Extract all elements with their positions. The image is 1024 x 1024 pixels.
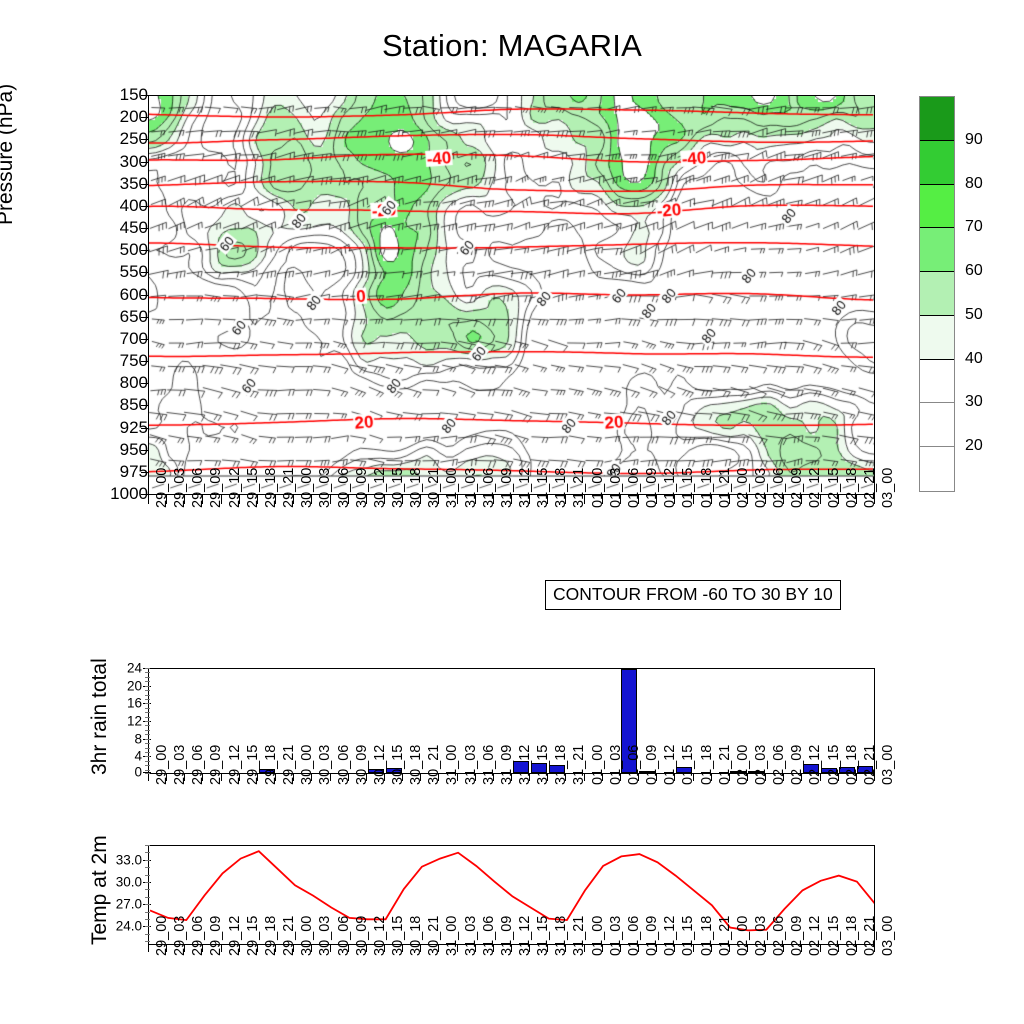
x-tickmark xyxy=(457,945,458,952)
x-tickmark xyxy=(184,495,185,504)
temp-y-minor-tick xyxy=(145,889,150,890)
x-tick-label: 02_18 xyxy=(844,745,860,785)
rain-y-minor-tick xyxy=(145,756,150,757)
x-tick-label: 31_00 xyxy=(444,745,460,785)
x-tickmark xyxy=(529,495,530,504)
x-tickmark xyxy=(221,945,222,952)
x-tickmark xyxy=(656,945,657,952)
x-tickmark xyxy=(330,774,331,781)
x-tickmark xyxy=(838,774,839,781)
rain-y-minor-tick xyxy=(145,717,150,718)
main-y-tick: 925 xyxy=(88,418,148,438)
temp-y-minor-tick xyxy=(145,926,150,927)
colorbar-tick-label: 40 xyxy=(965,350,983,368)
x-tickmark xyxy=(602,495,603,504)
x-tickmark xyxy=(202,774,203,781)
rain-y-minor-tick xyxy=(145,770,150,771)
main-y-axis-label: Pressure (hPa) xyxy=(0,84,18,225)
x-tickmark xyxy=(693,495,694,504)
x-tick-label: 31_18 xyxy=(553,916,569,956)
temp-y-minor-tick xyxy=(145,875,150,876)
x-tickmark xyxy=(420,495,421,504)
main-y-tick: 400 xyxy=(88,196,148,216)
x-tickmark xyxy=(257,774,258,781)
rain-y-minor-tick xyxy=(145,668,150,669)
rain-y-minor-tick xyxy=(145,721,150,722)
colorbar-band xyxy=(920,185,954,229)
colorbar-tick-label: 50 xyxy=(965,306,983,324)
x-tick-label: 30_00 xyxy=(299,745,315,785)
x-tick-label: 02_03 xyxy=(753,916,769,956)
x-tickmark xyxy=(293,495,294,504)
x-tick-label: 31_03 xyxy=(463,916,479,956)
x-tick-label: 01_03 xyxy=(608,916,624,956)
x-tick-label: 29_18 xyxy=(263,745,279,785)
x-tickmark xyxy=(529,774,530,781)
rain-y-minor-tick xyxy=(145,725,150,726)
x-tickmark xyxy=(166,774,167,781)
x-tickmark xyxy=(638,945,639,952)
rain-x-axis: 29_0029_0329_0629_0929_1229_1529_1829_21… xyxy=(148,774,875,844)
x-tick-label: 30_15 xyxy=(390,916,406,956)
x-tickmark xyxy=(620,945,621,952)
x-tickmark xyxy=(221,495,222,504)
x-tickmark xyxy=(620,774,621,781)
x-tickmark xyxy=(765,774,766,781)
x-tick-label: 01_06 xyxy=(626,468,642,508)
x-tickmark xyxy=(584,774,585,781)
x-tickmark xyxy=(311,945,312,952)
main-y-tick: 650 xyxy=(88,307,148,327)
main-y-tick: 250 xyxy=(88,129,148,149)
x-tick-label: 29_21 xyxy=(281,468,297,508)
x-tickmark xyxy=(729,945,730,952)
x-tickmark xyxy=(584,495,585,504)
main-y-tickmark xyxy=(141,228,148,229)
rain-y-tick: 8 xyxy=(96,731,142,746)
main-y-tick: 350 xyxy=(88,174,148,194)
x-tick-label: 29_03 xyxy=(172,745,188,785)
x-tickmark xyxy=(747,945,748,952)
x-tick-label: 02_09 xyxy=(789,468,805,508)
x-tick-label: 30_18 xyxy=(408,916,424,956)
x-tickmark xyxy=(239,774,240,781)
x-tickmark xyxy=(402,495,403,504)
x-tick-label: 02_03 xyxy=(753,468,769,508)
main-y-tick: 300 xyxy=(88,152,148,172)
colorbar-tick-label: 90 xyxy=(965,131,983,149)
contour-legend-box: CONTOUR FROM -60 TO 30 BY 10 xyxy=(545,580,841,610)
x-tickmark xyxy=(711,495,712,504)
x-tick-label: 31_12 xyxy=(517,745,533,785)
rain-y-axis: 24201612840 xyxy=(96,668,148,774)
x-tick-label: 30_03 xyxy=(317,916,333,956)
x-tickmark xyxy=(511,945,512,952)
x-tickmark xyxy=(257,945,258,952)
x-tick-label: 31_09 xyxy=(499,916,515,956)
main-y-tick: 150 xyxy=(88,85,148,105)
main-y-tickmark xyxy=(141,450,148,451)
colorbar-tick-label: 80 xyxy=(965,175,983,193)
temp-y-tick: 33.0 xyxy=(96,852,142,867)
x-tickmark xyxy=(856,945,857,952)
temp-y-minor-tick xyxy=(145,941,150,942)
x-tickmark xyxy=(293,774,294,781)
main-y-tickmark xyxy=(141,428,148,429)
x-tick-label: 29_00 xyxy=(154,745,170,785)
x-tickmark xyxy=(348,774,349,781)
main-y-tickmark xyxy=(141,206,148,207)
x-tickmark xyxy=(547,774,548,781)
rain-y-minor-tick xyxy=(145,686,150,687)
x-tick-label: 01_12 xyxy=(662,745,678,785)
main-y-tick: 200 xyxy=(88,107,148,127)
x-tick-label: 29_00 xyxy=(154,916,170,956)
x-tick-label: 02_03 xyxy=(753,745,769,785)
x-tick-label: 30_18 xyxy=(408,745,424,785)
temp-y-tick: 27.0 xyxy=(96,897,142,912)
x-tick-label: 01_06 xyxy=(626,745,642,785)
rain-y-minor-tick xyxy=(145,672,150,673)
x-tick-label: 30_06 xyxy=(336,745,352,785)
x-tick-label: 01_00 xyxy=(590,745,606,785)
contour-field-canvas xyxy=(149,96,875,495)
colorbar-band xyxy=(920,403,954,447)
x-tick-label: 03_00 xyxy=(880,468,896,508)
x-tickmark xyxy=(693,945,694,952)
main-y-tickmark xyxy=(141,339,148,340)
x-tick-label: 29_06 xyxy=(190,468,206,508)
x-tick-label: 31_12 xyxy=(517,468,533,508)
x-tick-label: 01_09 xyxy=(644,745,660,785)
x-tick-label: 01_03 xyxy=(608,468,624,508)
x-tick-label: 30_09 xyxy=(354,468,370,508)
x-tickmark xyxy=(493,945,494,952)
colorbar-band xyxy=(920,360,954,404)
temp-y-minor-tick xyxy=(145,912,150,913)
x-tickmark xyxy=(638,495,639,504)
temp-y-minor-tick xyxy=(145,845,150,846)
x-tickmark xyxy=(820,774,821,781)
x-tickmark xyxy=(838,495,839,504)
x-tick-label: 31_15 xyxy=(535,745,551,785)
x-tick-label: 02_12 xyxy=(807,468,823,508)
rain-y-tick: 0 xyxy=(96,765,142,780)
x-tick-label: 01_21 xyxy=(717,745,733,785)
x-tick-label: 29_03 xyxy=(172,916,188,956)
x-tick-label: 01_18 xyxy=(699,916,715,956)
main-y-tickmark xyxy=(141,272,148,273)
temp-y-minor-tick xyxy=(145,897,150,898)
x-tickmark xyxy=(148,945,149,952)
main-y-tick: 750 xyxy=(88,351,148,371)
x-tick-label: 29_09 xyxy=(208,745,224,785)
x-tick-label: 31_00 xyxy=(444,468,460,508)
x-tickmark xyxy=(801,945,802,952)
x-tick-label: 02_06 xyxy=(771,745,787,785)
x-tick-label: 29_15 xyxy=(245,916,261,956)
colorbar-band xyxy=(920,316,954,360)
x-tickmark xyxy=(330,945,331,952)
main-y-axis: 1502002503003504004505005506006507007508… xyxy=(80,95,148,495)
x-tickmark xyxy=(475,495,476,504)
x-tickmark xyxy=(783,774,784,781)
x-tick-label: 29_00 xyxy=(154,468,170,508)
colorbar-band xyxy=(920,141,954,185)
x-tickmark xyxy=(674,495,675,504)
x-tick-label: 02_00 xyxy=(735,468,751,508)
x-tickmark xyxy=(656,495,657,504)
x-tick-label: 31_12 xyxy=(517,916,533,956)
x-tickmark xyxy=(511,495,512,504)
x-tick-label: 30_18 xyxy=(408,468,424,508)
x-tickmark xyxy=(420,774,421,781)
x-tick-label: 29_09 xyxy=(208,916,224,956)
x-tick-label: 02_21 xyxy=(862,916,878,956)
rain-y-minor-tick xyxy=(145,765,150,766)
x-tickmark xyxy=(856,495,857,504)
x-tickmark xyxy=(457,495,458,504)
x-tickmark xyxy=(166,495,167,504)
x-tick-label: 29_18 xyxy=(263,468,279,508)
x-tick-label: 29_09 xyxy=(208,468,224,508)
x-tickmark xyxy=(620,495,621,504)
x-tickmark xyxy=(529,945,530,952)
x-tick-label: 02_18 xyxy=(844,916,860,956)
colorbar-tick-label: 70 xyxy=(965,218,983,236)
x-tickmark xyxy=(783,495,784,504)
main-y-tick: 800 xyxy=(88,373,148,393)
x-tick-label: 29_06 xyxy=(190,916,206,956)
x-tick-label: 29_18 xyxy=(263,916,279,956)
temp-y-axis: 33.030.027.024.0 xyxy=(96,845,148,945)
x-tick-label: 29_21 xyxy=(281,916,297,956)
main-y-tick: 975 xyxy=(88,462,148,482)
x-tickmark xyxy=(602,774,603,781)
x-tickmark xyxy=(438,774,439,781)
x-tickmark xyxy=(729,774,730,781)
x-tickmark xyxy=(493,774,494,781)
x-tick-label: 03_00 xyxy=(880,916,896,956)
x-tick-label: 01_21 xyxy=(717,916,733,956)
x-tick-label: 30_21 xyxy=(426,916,442,956)
x-tickmark xyxy=(874,495,875,504)
x-tick-label: 30_06 xyxy=(336,916,352,956)
x-tickmark xyxy=(148,774,149,781)
x-tickmark xyxy=(166,945,167,952)
rain-y-minor-tick xyxy=(145,699,150,700)
x-tickmark xyxy=(584,945,585,952)
colorbar-band xyxy=(920,228,954,272)
x-tickmark xyxy=(330,495,331,504)
x-tickmark xyxy=(874,945,875,952)
x-tick-label: 30_15 xyxy=(390,468,406,508)
x-tickmark xyxy=(747,495,748,504)
x-tick-label: 01_06 xyxy=(626,916,642,956)
main-y-tick: 600 xyxy=(88,285,148,305)
x-tickmark xyxy=(747,774,748,781)
x-tick-label: 02_15 xyxy=(826,468,842,508)
colorbar-tick-label: 60 xyxy=(965,262,983,280)
x-tick-label: 02_12 xyxy=(807,916,823,956)
x-tick-label: 02_06 xyxy=(771,916,787,956)
x-tick-label: 29_12 xyxy=(227,468,243,508)
rain-y-tick: 12 xyxy=(96,714,142,729)
rain-y-minor-tick xyxy=(145,730,150,731)
colorbar-band xyxy=(920,272,954,316)
x-tick-label: 30_03 xyxy=(317,745,333,785)
x-tick-label: 30_21 xyxy=(426,468,442,508)
sounding-contour-panel xyxy=(148,95,875,495)
x-tick-label: 01_15 xyxy=(680,468,696,508)
x-tickmark xyxy=(438,945,439,952)
x-tickmark xyxy=(565,774,566,781)
x-tickmark xyxy=(838,945,839,952)
x-tickmark xyxy=(366,945,367,952)
x-tickmark xyxy=(148,495,149,504)
x-tickmark xyxy=(801,495,802,504)
x-tick-label: 30_09 xyxy=(354,916,370,956)
x-tickmark xyxy=(311,774,312,781)
temp-y-tick: 30.0 xyxy=(96,875,142,890)
x-tickmark xyxy=(402,945,403,952)
x-tickmark xyxy=(765,495,766,504)
x-tickmark xyxy=(511,774,512,781)
x-tickmark xyxy=(384,495,385,504)
x-tickmark xyxy=(239,945,240,952)
x-tick-label: 02_21 xyxy=(862,468,878,508)
x-tickmark xyxy=(366,774,367,781)
main-y-tick: 1000 xyxy=(88,484,148,504)
x-tick-label: 31_15 xyxy=(535,468,551,508)
x-tick-label: 31_09 xyxy=(499,468,515,508)
x-tick-label: 01_09 xyxy=(644,916,660,956)
temp-y-minor-tick xyxy=(145,882,150,883)
x-tickmark xyxy=(783,945,784,952)
rain-y-minor-tick xyxy=(145,677,150,678)
x-tickmark xyxy=(674,945,675,952)
x-tickmark xyxy=(765,945,766,952)
x-tickmark xyxy=(729,495,730,504)
x-tickmark xyxy=(801,774,802,781)
x-tick-label: 01_15 xyxy=(680,745,696,785)
x-tick-label: 01_15 xyxy=(680,916,696,956)
x-tick-label: 30_00 xyxy=(299,468,315,508)
x-tickmark xyxy=(311,495,312,504)
main-y-tickmark xyxy=(141,383,148,384)
main-y-tick: 700 xyxy=(88,329,148,349)
x-tick-label: 31_18 xyxy=(553,468,569,508)
x-tick-label: 29_06 xyxy=(190,745,206,785)
x-tick-label: 01_09 xyxy=(644,468,660,508)
rain-y-minor-tick xyxy=(145,739,150,740)
x-tickmark xyxy=(565,945,566,952)
x-tick-label: 29_21 xyxy=(281,745,297,785)
x-tick-label: 31_09 xyxy=(499,745,515,785)
x-tickmark xyxy=(547,945,548,952)
x-tickmark xyxy=(493,495,494,504)
main-x-axis: 29_0029_0329_0629_0929_1229_1529_1829_21… xyxy=(148,495,875,565)
x-tick-label: 31_03 xyxy=(463,468,479,508)
x-tickmark xyxy=(674,774,675,781)
x-tick-label: 02_15 xyxy=(826,916,842,956)
colorbar-tick-label: 20 xyxy=(965,437,983,455)
x-tickmark xyxy=(275,774,276,781)
temp-y-minor-tick xyxy=(145,904,150,905)
x-tick-label: 01_03 xyxy=(608,745,624,785)
temp-y-minor-tick xyxy=(145,867,150,868)
rain-y-tick: 24 xyxy=(96,661,142,676)
main-y-tickmark xyxy=(141,472,148,473)
temp-y-minor-tick xyxy=(145,919,150,920)
x-tick-label: 29_03 xyxy=(172,468,188,508)
x-tickmark xyxy=(475,945,476,952)
x-tick-label: 01_21 xyxy=(717,468,733,508)
x-tickmark xyxy=(275,945,276,952)
temp-y-minor-tick xyxy=(145,860,150,861)
rain-y-minor-tick xyxy=(145,752,150,753)
main-y-tickmark xyxy=(141,361,148,362)
x-tickmark xyxy=(402,774,403,781)
rain-y-minor-tick xyxy=(145,734,150,735)
x-tick-label: 02_00 xyxy=(735,745,751,785)
rain-y-minor-tick xyxy=(145,743,150,744)
x-tickmark xyxy=(638,774,639,781)
main-y-tickmark xyxy=(141,295,148,296)
main-y-tickmark xyxy=(141,139,148,140)
x-tickmark xyxy=(438,495,439,504)
temp-y-minor-tick xyxy=(145,934,150,935)
x-tickmark xyxy=(184,774,185,781)
rain-y-minor-tick xyxy=(145,748,150,749)
main-y-tick: 450 xyxy=(88,218,148,238)
x-tick-label: 29_15 xyxy=(245,745,261,785)
x-tick-label: 29_12 xyxy=(227,745,243,785)
x-tickmark xyxy=(874,774,875,781)
main-y-tickmark xyxy=(141,184,148,185)
x-tickmark xyxy=(202,945,203,952)
x-tick-label: 02_21 xyxy=(862,745,878,785)
temp-y-minor-tick xyxy=(145,852,150,853)
x-tickmark xyxy=(820,495,821,504)
x-tick-label: 30_12 xyxy=(372,468,388,508)
x-tick-label: 01_00 xyxy=(590,468,606,508)
x-tickmark xyxy=(257,495,258,504)
x-tick-label: 02_09 xyxy=(789,916,805,956)
colorbar-band xyxy=(920,447,954,491)
x-tick-label: 01_18 xyxy=(699,745,715,785)
main-y-tick: 550 xyxy=(88,262,148,282)
rain-y-minor-tick xyxy=(145,695,150,696)
rain-y-minor-tick xyxy=(145,708,150,709)
x-tick-label: 02_06 xyxy=(771,468,787,508)
rain-y-tick: 4 xyxy=(96,749,142,764)
x-tickmark xyxy=(366,495,367,504)
colorbar-band xyxy=(920,97,954,141)
x-tick-label: 02_09 xyxy=(789,745,805,785)
x-tick-label: 30_00 xyxy=(299,916,315,956)
x-tick-label: 31_03 xyxy=(463,745,479,785)
x-tickmark xyxy=(348,945,349,952)
main-y-tickmark xyxy=(141,250,148,251)
rain-y-minor-tick xyxy=(145,703,150,704)
x-tick-label: 02_12 xyxy=(807,745,823,785)
x-tickmark xyxy=(202,495,203,504)
x-tick-label: 30_03 xyxy=(317,468,333,508)
main-y-tick: 850 xyxy=(88,395,148,415)
colorbar-tick-label: 30 xyxy=(965,393,983,411)
temp-x-axis: 29_0029_0329_0629_0929_1229_1529_1829_21… xyxy=(148,945,875,1015)
